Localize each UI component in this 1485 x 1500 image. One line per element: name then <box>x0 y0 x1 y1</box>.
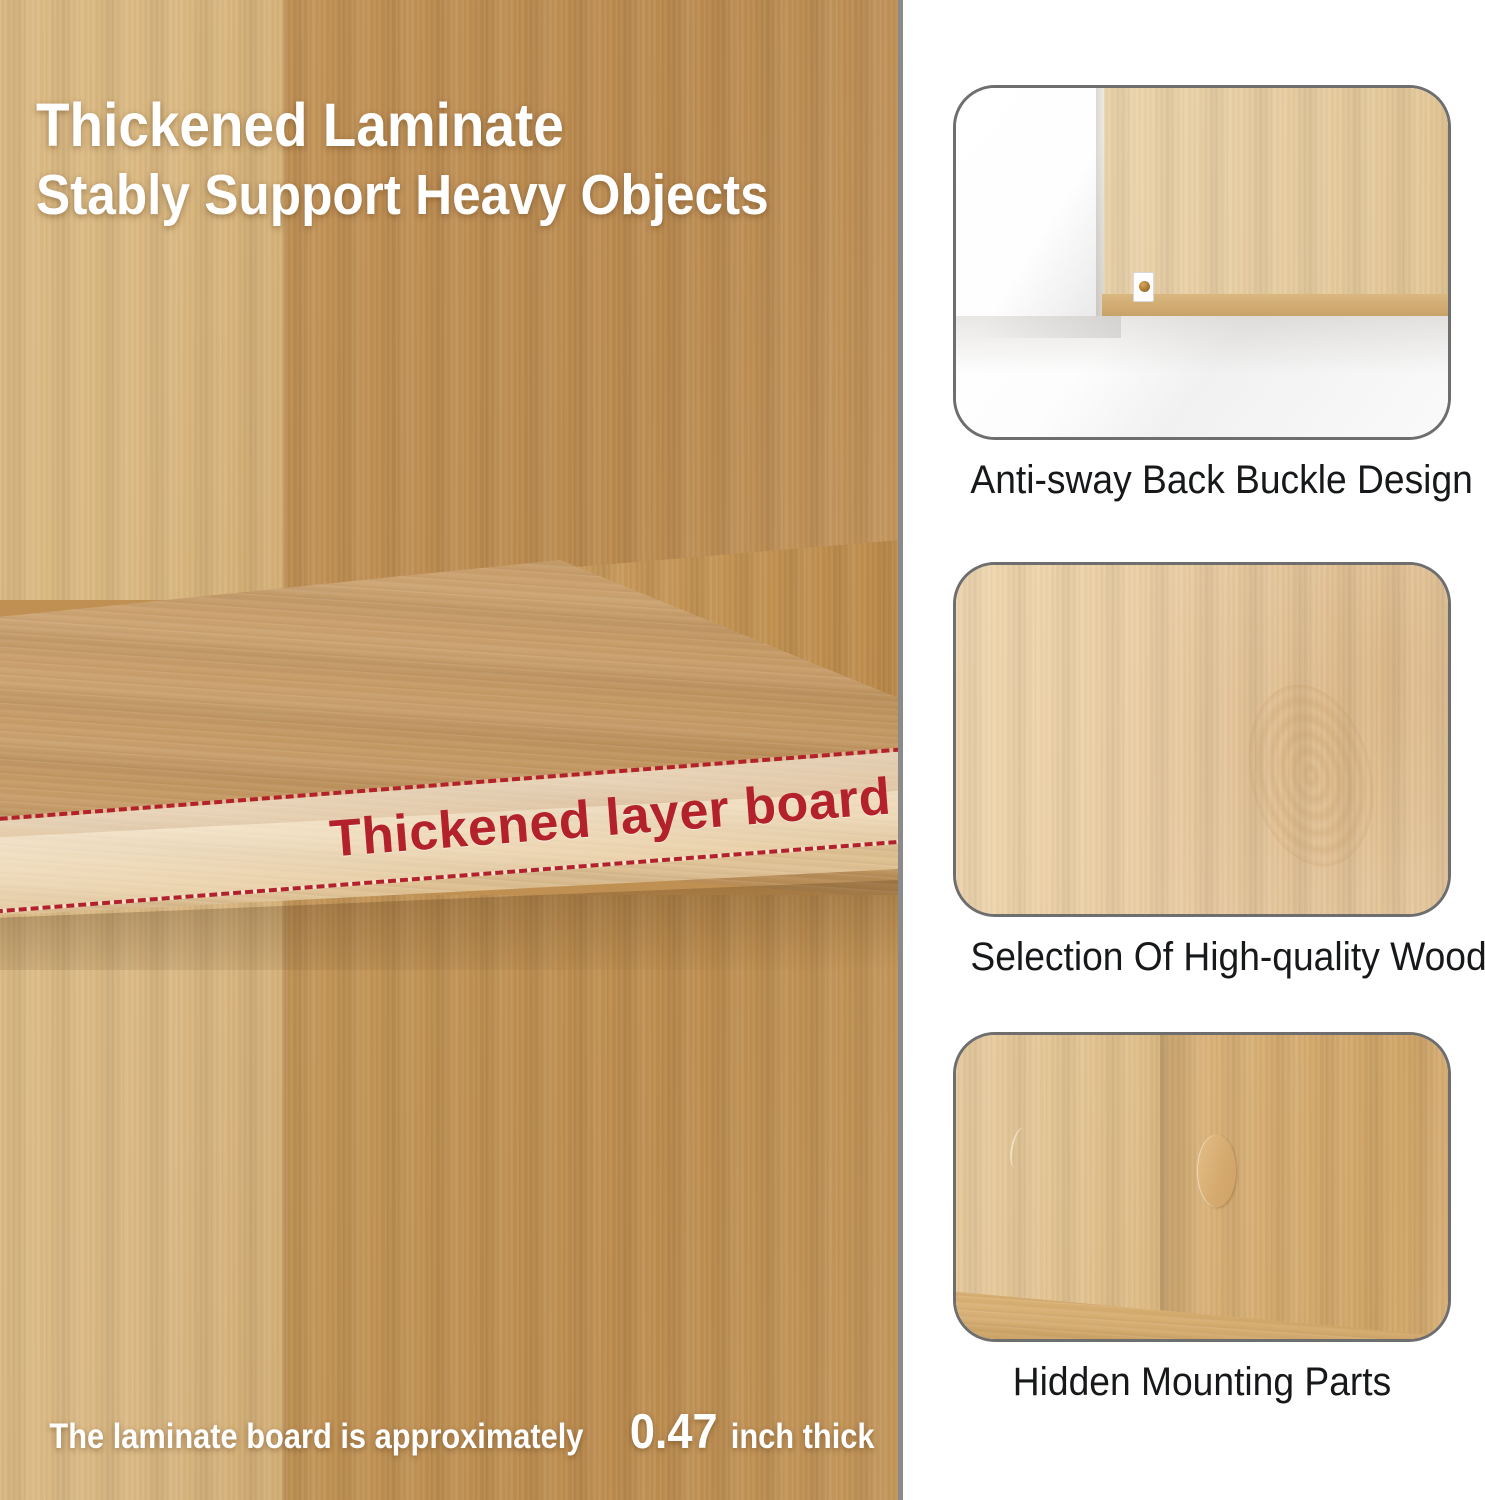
thickness-caption-number: 0.47 <box>630 1404 718 1460</box>
back-buckle-bracket <box>1133 272 1154 302</box>
cam-lock-cover-cap <box>1198 1135 1236 1207</box>
feature-caption-anti-sway: Anti-sway Back Buckle Design <box>970 458 1433 503</box>
screw-icon <box>1139 281 1150 292</box>
feature-item-hidden-mounting: Hidden Mounting Parts <box>953 1032 1451 1405</box>
thickness-caption-text: The laminate board is approximately <box>50 1417 584 1457</box>
floor-shadow <box>956 316 1451 374</box>
wood-grain-texture <box>956 565 1448 914</box>
upper-left-side-panel <box>0 0 286 600</box>
oak-wood-surface <box>956 565 1448 914</box>
feature-item-anti-sway: Anti-sway Back Buckle Design <box>953 85 1451 503</box>
headline-line-2: Stably Support Heavy Objects <box>36 166 801 224</box>
feature-item-wood-quality: Selection Of High-quality Wood <box>953 562 1451 980</box>
corner-shadow <box>1160 1035 1186 1342</box>
feature-caption-wood-quality: Selection Of High-quality Wood <box>970 935 1433 980</box>
hero-shelf-photo: Thickened layer board Thickened Laminate… <box>0 0 898 1500</box>
wood-grain-texture <box>0 0 286 600</box>
feature-column: Anti-sway Back Buckle Design Selection O… <box>903 0 1485 1500</box>
feature-caption-hidden-mounting: Hidden Mounting Parts <box>970 1360 1433 1405</box>
feature-thumbnail-hidden-mounting <box>953 1032 1451 1342</box>
feature-thumbnail-wood-quality <box>953 562 1451 917</box>
thickness-caption-unit: inch thick <box>731 1417 875 1457</box>
thickness-caption: The laminate board is approximately 0.47… <box>0 1404 898 1460</box>
panel-bottom-lip <box>1102 294 1451 316</box>
feature-thumbnail-anti-sway <box>953 85 1451 440</box>
wood-grain-texture <box>1104 85 1451 302</box>
wood-panel <box>1104 85 1451 302</box>
product-feature-image: Thickened layer board Thickened Laminate… <box>0 0 1485 1500</box>
hero-headline: Thickened Laminate Stably Support Heavy … <box>36 94 886 224</box>
surface-highlight <box>1007 1126 1033 1171</box>
headline-line-1: Thickened Laminate <box>36 94 801 156</box>
